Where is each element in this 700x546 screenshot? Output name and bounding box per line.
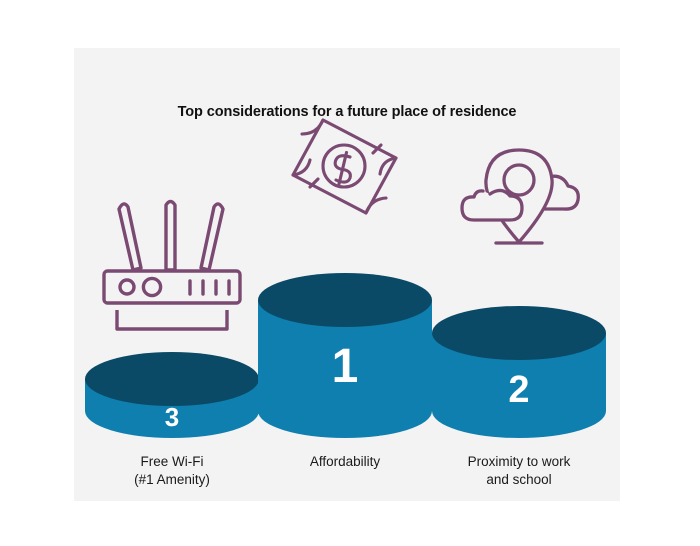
- rank-number-1: 1: [258, 343, 432, 391]
- podium-group: 3 Free Wi-Fi (#1 Amenity): [74, 48, 620, 501]
- podium-cylinder-rank-3: 3: [85, 352, 259, 438]
- wifi-router-icon-wrap: [85, 193, 259, 313]
- podium-label-line-1: Proximity to work: [407, 453, 631, 471]
- wifi-router-stand-icon-wrap: [85, 310, 259, 338]
- podium-item-affordability: 1 Affordability: [258, 48, 432, 501]
- rank-number-3: 3: [85, 404, 259, 430]
- map-pin-location-icon-wrap: [432, 140, 606, 256]
- podium-label-proximity: Proximity to work and school: [407, 453, 631, 489]
- infographic-root: Top considerations for a future place of…: [0, 0, 700, 546]
- map-pin-location-icon: [456, 144, 582, 256]
- podium-item-free-wifi: 3 Free Wi-Fi (#1 Amenity): [85, 48, 259, 501]
- wifi-router-icon: [97, 195, 247, 313]
- cylinder-top-cap: [258, 273, 432, 327]
- wifi-router-stand-icon: [97, 310, 247, 338]
- cylinder-top-cap: [432, 306, 606, 360]
- infographic-panel: Top considerations for a future place of…: [74, 48, 620, 501]
- cylinder-top-cap: [85, 352, 259, 406]
- podium-item-proximity: 2 Proximity to work and school: [432, 48, 606, 501]
- podium-cylinder-rank-2: 2: [432, 306, 606, 438]
- podium-label-line-2: (#1 Amenity): [60, 471, 284, 489]
- podium-cylinder-rank-1: 1: [258, 273, 432, 438]
- podium-label-line-2: and school: [407, 471, 631, 489]
- money-banknote-icon-wrap: [258, 108, 432, 220]
- money-banknote-icon: [286, 112, 404, 220]
- rank-number-2: 2: [432, 371, 606, 409]
